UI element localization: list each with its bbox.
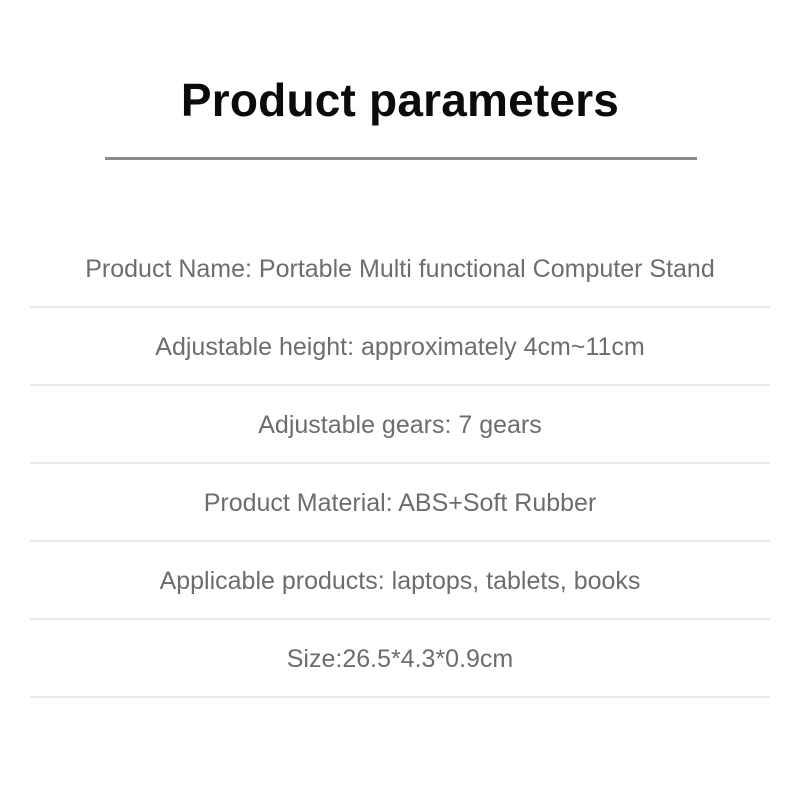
parameter-text: Adjustable gears: 7 gears bbox=[258, 408, 542, 442]
parameter-text: Product Name: Portable Multi functional … bbox=[85, 252, 714, 286]
parameter-row: Adjustable height: approximately 4cm~11c… bbox=[0, 308, 800, 386]
parameter-row: Product Material: ABS+Soft Rubber bbox=[0, 464, 800, 542]
parameter-row: Adjustable gears: 7 gears bbox=[0, 386, 800, 464]
title-divider bbox=[105, 157, 697, 160]
parameter-text: Adjustable height: approximately 4cm~11c… bbox=[155, 330, 644, 364]
parameter-row: Product Name: Portable Multi functional … bbox=[0, 230, 800, 308]
title-block: Product parameters bbox=[0, 72, 800, 128]
row-separator bbox=[30, 696, 770, 698]
page-title: Product parameters bbox=[0, 72, 800, 128]
parameter-text: Size:26.5*4.3*0.9cm bbox=[287, 642, 514, 676]
parameter-row: Applicable products: laptops, tablets, b… bbox=[0, 542, 800, 620]
parameter-text: Product Material: ABS+Soft Rubber bbox=[204, 486, 597, 520]
parameter-row: Size:26.5*4.3*0.9cm bbox=[0, 620, 800, 698]
parameter-text: Applicable products: laptops, tablets, b… bbox=[160, 564, 641, 598]
product-parameters-page: Product parameters Product Name: Portabl… bbox=[0, 0, 800, 800]
parameters-list: Product Name: Portable Multi functional … bbox=[0, 230, 800, 698]
